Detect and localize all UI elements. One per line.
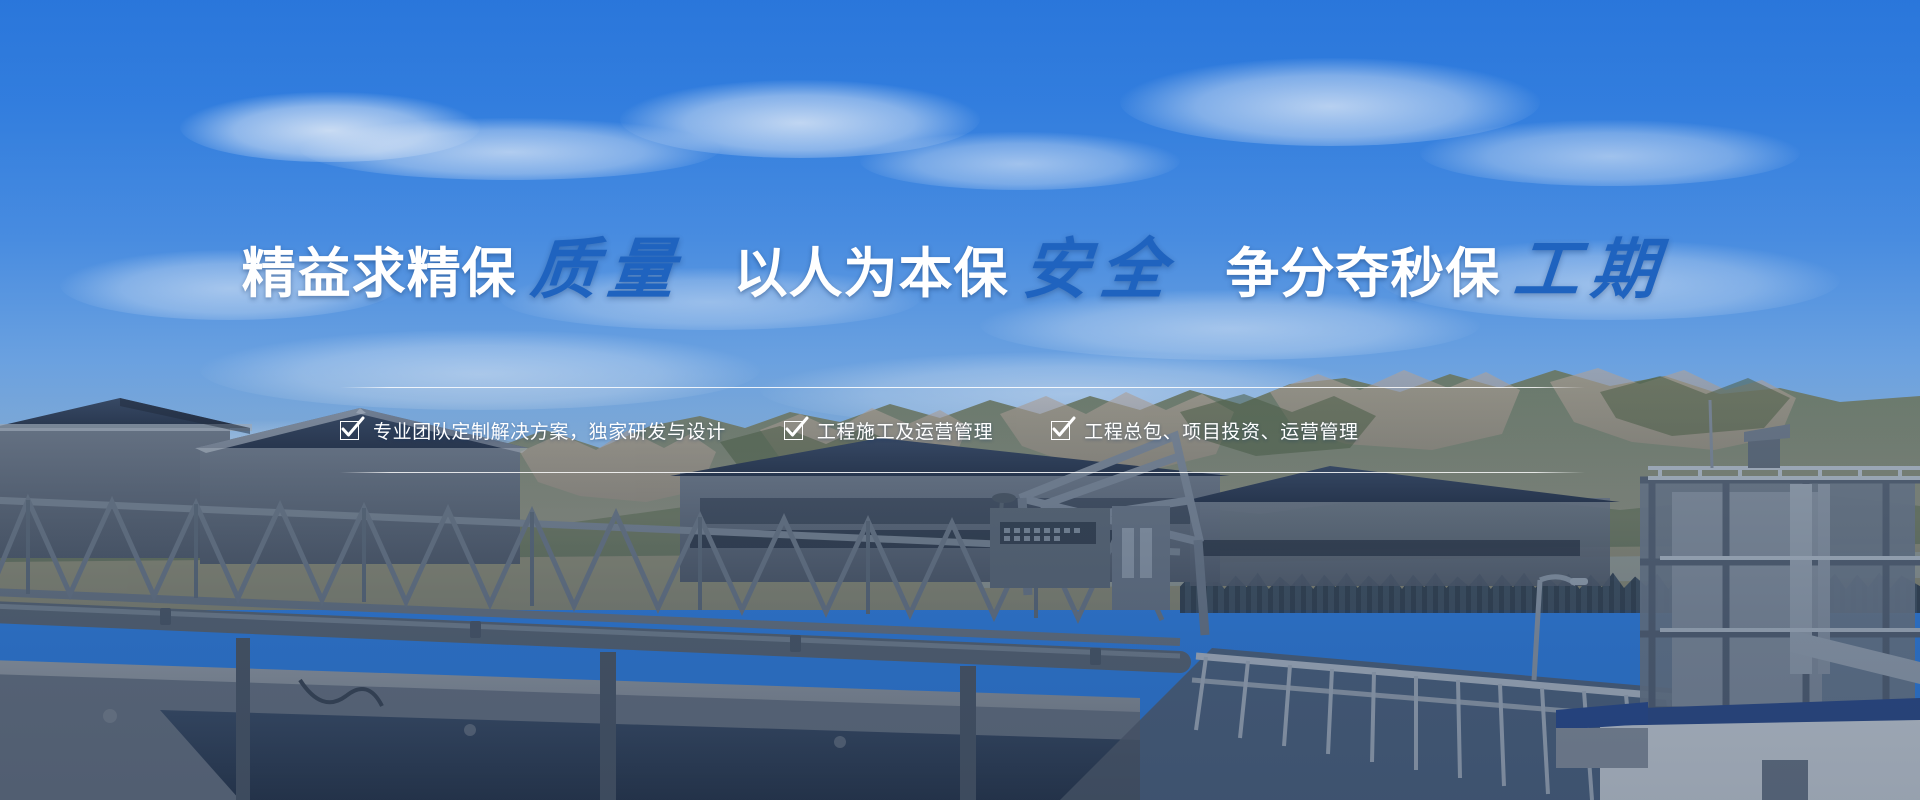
feature-item-1: 专业团队定制解决方案，独家研发与设计 [340, 417, 726, 444]
feature-label-2: 工程施工及运营管理 [817, 417, 993, 444]
headline-plain-2: 以人为本保 [734, 244, 1009, 304]
checkbox-checked-icon [340, 421, 359, 440]
checkbox-checked-icon [1051, 421, 1070, 440]
divider-bottom [340, 472, 1585, 473]
feature-label-1: 专业团队定制解决方案，独家研发与设计 [373, 417, 726, 444]
checkbox-checked-icon [784, 421, 803, 440]
feature-label-3: 工程总包、项目投资、运营管理 [1084, 417, 1358, 444]
headline-plain-3: 争分夺秒保 [1225, 244, 1500, 304]
headline-segment-3: 争分夺秒保工期 [1225, 238, 1678, 304]
feature-item-2: 工程施工及运营管理 [784, 417, 993, 444]
headline-brush-3: 工期 [1512, 238, 1672, 304]
feature-list: 专业团队定制解决方案，独家研发与设计 工程施工及运营管理 工程总包、项目投资、运… [340, 406, 1585, 454]
headline: 精益求精保质量 以人为本保安全 争分夺秒保工期 [0, 238, 1920, 304]
feature-item-3: 工程总包、项目投资、运营管理 [1051, 417, 1358, 444]
headline-segment-1: 精益求精保质量 [242, 238, 695, 304]
headline-plain-1: 精益求精保 [242, 244, 517, 304]
banner-content: 精益求精保质量 以人为本保安全 争分夺秒保工期 专业团队定制解决方案，独家研发与… [0, 0, 1920, 800]
divider-top [340, 387, 1585, 388]
headline-brush-2: 安全 [1020, 238, 1180, 304]
hero-banner: 精益求精保质量 以人为本保安全 争分夺秒保工期 专业团队定制解决方案，独家研发与… [0, 0, 1920, 800]
headline-segment-2: 以人为本保安全 [734, 238, 1187, 304]
headline-brush-1: 质量 [528, 238, 688, 304]
